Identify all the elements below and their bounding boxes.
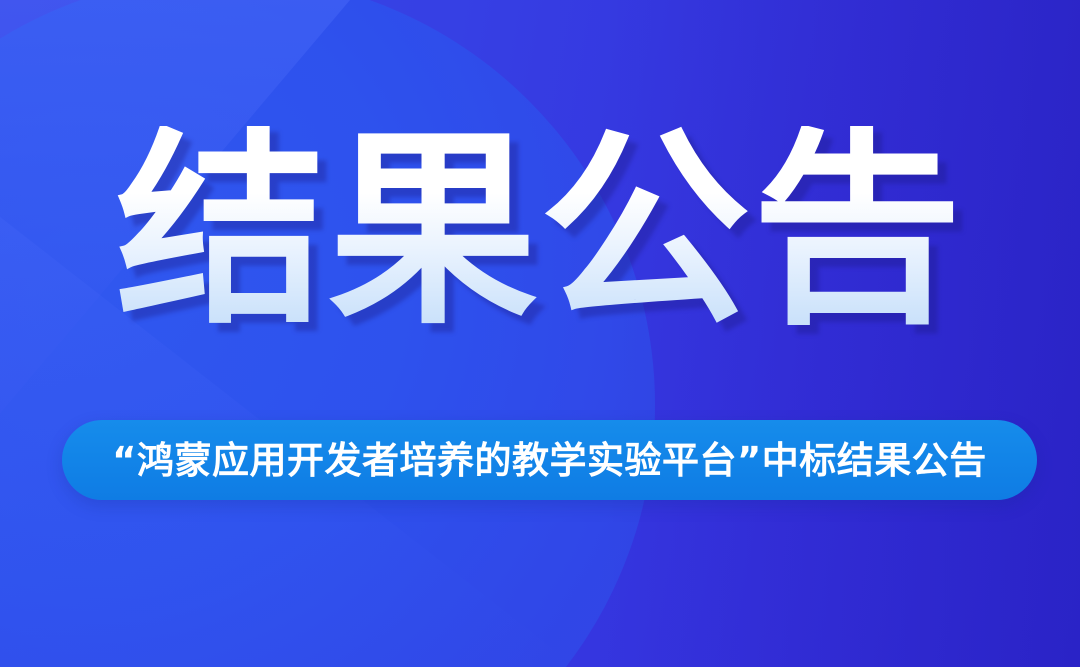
announcement-poster: 结果公告 结果公告 “鸿蒙应用开发者培养的教学实验平台”中标结果公告 (0, 0, 1080, 667)
page-title: 结果公告 (0, 126, 1080, 336)
announcement-banner: “鸿蒙应用开发者培养的教学实验平台”中标结果公告 (62, 420, 1037, 500)
headline-block: 结果公告 结果公告 (0, 126, 1080, 336)
announcement-banner-text: “鸿蒙应用开发者培养的教学实验平台”中标结果公告 (112, 442, 987, 479)
